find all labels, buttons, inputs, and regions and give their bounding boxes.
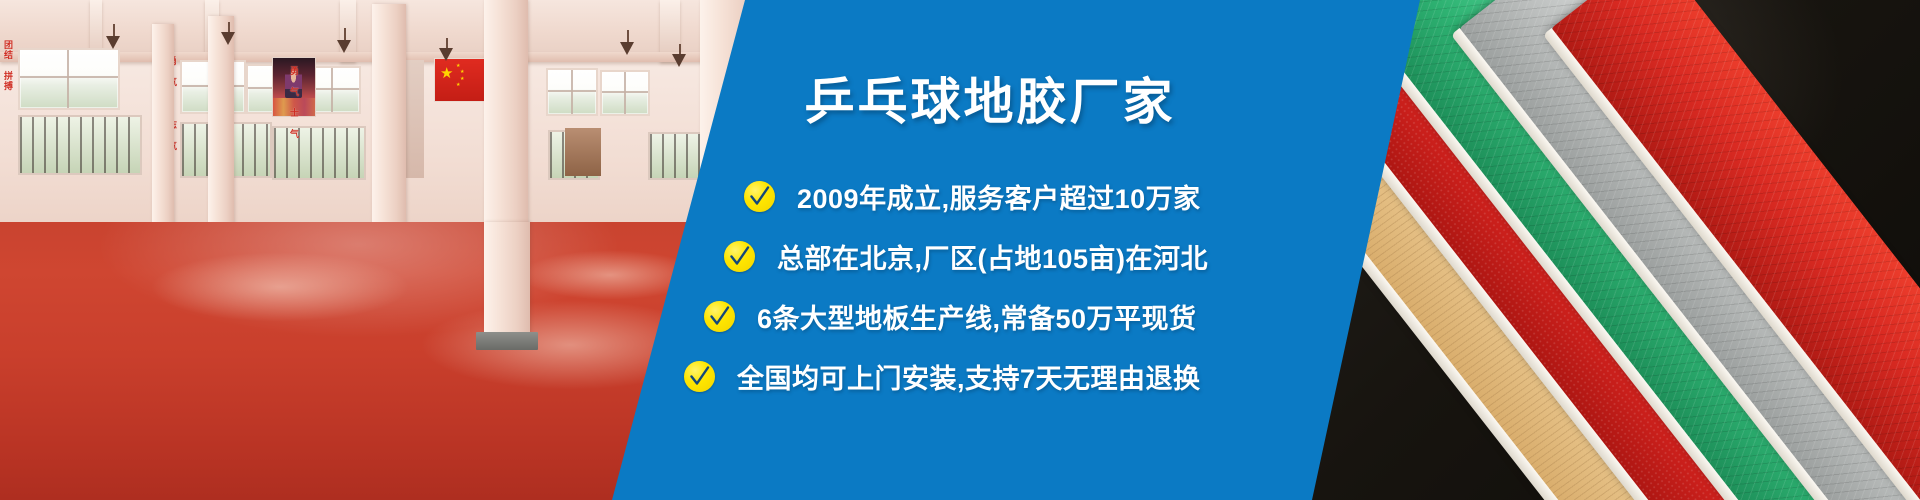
ceiling-lamp [106, 36, 120, 49]
wall-slogan: 团结 拼搏 [2, 40, 13, 160]
page-title: 乒乓球地胶厂家 [640, 62, 1340, 134]
list-item: 2009年成立,服务客户超过10万家 [640, 168, 1340, 224]
flag-star-large: ★ [440, 66, 453, 81]
gym-column [484, 222, 530, 338]
list-item: 全国均可上门安装,支持7天无理由退换 [640, 348, 1340, 404]
gym-window-grille [272, 126, 366, 180]
list-item-label: 全国均可上门安装,支持7天无理由退换 [737, 357, 1201, 396]
window-bars [20, 117, 140, 173]
list-item-label: 总部在北京,厂区(占地105亩)在河北 [777, 237, 1208, 276]
flag-star-small: ★ [456, 83, 460, 88]
check-circle-icon [684, 361, 715, 392]
gym-window [546, 68, 598, 116]
ceiling-lamp [337, 40, 351, 53]
ceiling-lamp [439, 48, 453, 61]
gym-column [152, 24, 174, 230]
gym-window [18, 48, 120, 110]
wall-slogan: 勇 气 士 气 [288, 66, 299, 170]
check-circle-icon [724, 241, 755, 272]
check-circle-icon [744, 181, 775, 212]
list-item-label: 2009年成立,服务客户超过10万家 [797, 177, 1201, 216]
list-item: 总部在北京,厂区(占地105亩)在河北 [640, 228, 1340, 284]
gym-column [208, 16, 234, 248]
panel-content: 乒乓球地胶厂家 2009年成立,服务客户超过10万家 总部在北京,厂区(占地10… [640, 0, 1340, 500]
gym-column-base [476, 332, 538, 350]
feature-list: 2009年成立,服务客户超过10万家 总部在北京,厂区(占地105亩)在河北 6… [640, 168, 1340, 408]
ceiling-lamp [221, 32, 235, 45]
flag-star-small: ★ [460, 77, 464, 82]
list-item: 6条大型地板生产线,常备50万平现货 [640, 288, 1340, 344]
list-item-label: 6条大型地板生产线,常备50万平现货 [757, 297, 1197, 336]
gym-window-grille [18, 115, 142, 175]
gym-doorway [565, 128, 601, 176]
ceiling-lamp [620, 42, 634, 55]
check-circle-icon [704, 301, 735, 332]
promo-banner: ★ ★ ★ ★ ★ 团结 拼搏 勇 气 | 志 气 勇 气 士 气 [0, 0, 1920, 500]
flag-star-small: ★ [460, 70, 464, 75]
